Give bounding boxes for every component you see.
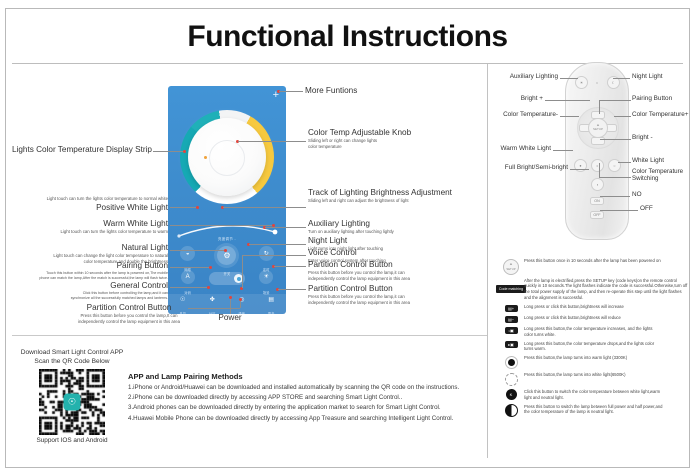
remote-label-color-temp-minus: Color Temperature- [488, 111, 558, 118]
legend-row-setup: ◓ SETUP Press this button once in 10 sec… [500, 258, 688, 275]
more-cell[interactable]: ▤ 更多 [257, 292, 287, 314]
remote-label-color-temp-plus: Color Temperature+ [632, 111, 695, 118]
label-text: Pairing Button [632, 95, 692, 102]
anchor-positive-white-light [196, 206, 199, 209]
remote-label-night-light: Night Light [632, 73, 692, 80]
callout-warm-white-light: Warm White Light Light touch can turn th… [10, 219, 168, 235]
legend-row-warm-light: Press this button,the lamp turns into wa… [500, 355, 688, 369]
callout-sub: Press this button before you control the… [44, 313, 214, 325]
label-text: Color Temperature- [488, 111, 558, 118]
callout-title: Partition Control Button [308, 284, 486, 293]
callout-sub: Press this button before you control the… [308, 270, 486, 282]
leader-night-light [249, 244, 306, 245]
setup-symbol-label: SETUP [506, 267, 515, 271]
anchor-display-strip [183, 150, 186, 153]
leader-natural-light [170, 250, 224, 251]
color-temp-minus-icon: ▸▣ [500, 341, 522, 352]
white-light-icon [500, 372, 522, 386]
remote-label-pairing-button: Pairing Button [632, 95, 692, 102]
legend-text: Long press or click this button,brightne… [522, 304, 624, 312]
callout-title: Pairing Button [10, 261, 168, 270]
remote-off-button[interactable]: OFF [590, 211, 604, 219]
callout-brightness-track: Track of Lighting Brightness Adjustment … [308, 188, 486, 204]
timer-icon[interactable]: ↻ [259, 246, 274, 261]
power-toggle-dot [237, 277, 241, 281]
anchor-pairing-button [209, 266, 212, 269]
leader-remote-night [613, 78, 630, 79]
remote-control: ☀ ☾ ◓ SETUP ● ◐ ○ ◖ ON OFF [565, 62, 629, 240]
qr-line-2: Scan the QR Code Below [18, 357, 126, 366]
callout-general-control: General Control Click this button before… [10, 281, 168, 301]
bright-minus-icon: ▤− [500, 315, 522, 323]
color-temp-plus-icon: ◃▣ [500, 326, 522, 337]
remote-label-bright-plus: Bright + [495, 95, 543, 102]
callout-pairing-button: Pairing Button Touch this button within … [10, 261, 168, 281]
bright-plus-icon: ▤+ [500, 304, 522, 312]
callout-sub: Light touch can turn the lights color te… [10, 196, 168, 202]
leader-voice-control [242, 255, 306, 256]
callout-sub: Light touch can turn the lights color te… [10, 229, 168, 235]
leader-voice-control-v [242, 255, 243, 288]
leader-partition-right-2 [278, 289, 306, 290]
callout-more-functions: More Funtions [305, 86, 435, 95]
label-text: Bright + [495, 95, 543, 102]
callout-title: Positive White Light [10, 203, 168, 212]
setup-button-icon: ◓ SETUP [500, 258, 522, 275]
pairing-methods-block: APP and Lamp Pairing Methods 1.iPhone or… [128, 372, 480, 425]
callout-title: Track of Lighting Brightness Adjustment [308, 188, 486, 197]
anchor-warm-white-light [272, 224, 275, 227]
label-text: Night Light [632, 73, 692, 80]
qr-support-text: Support IOS and Android [18, 437, 126, 444]
wifi-icon[interactable]: ◒ [180, 246, 195, 261]
legend-row-ct-minus: ▸▣ Long press this button,the color temp… [500, 341, 688, 352]
leader-remote-pairing [599, 100, 631, 101]
legend-text: Press this button,the lamp turns into wa… [522, 355, 627, 369]
knob-indicator-dot [204, 156, 207, 159]
app-logo-icon: ☉ [64, 394, 81, 411]
legend-text: Press this button to switch the lamp bet… [522, 404, 663, 418]
remote-label-off: OFF [640, 205, 680, 212]
qr-line-1: Download Smart Light Control APP [18, 348, 126, 357]
code-matching-icon: Code matching [500, 278, 522, 300]
remote-label-color-temp-switching: Color Temperature Switching [632, 168, 692, 182]
remote-label-no: NO [632, 191, 672, 198]
anchor-partition-left [239, 298, 242, 301]
brightness-label: 亮度调节 - [168, 236, 286, 241]
remote-label-auxiliary-lighting: Auxiliary Lighting [495, 73, 558, 80]
leader-color-temp-knob [238, 141, 306, 142]
setup-label: SETUP [593, 128, 603, 131]
remote-label-warm-white-light: Warm White Light [492, 145, 551, 152]
label-text: Full Bright/Semi-bright [490, 164, 568, 171]
leader-remote-ct-plus [614, 116, 631, 117]
anchor-natural-light [224, 249, 227, 252]
callout-sub: Sliding left and right can adjust the br… [308, 198, 486, 204]
label-text: Bright - [632, 134, 692, 141]
callout-partition-right-2: Partition Control Button Press this butt… [308, 284, 486, 306]
voice-control-cell[interactable]: ◎ 语音 [227, 292, 257, 314]
leader-partition-right-1 [274, 266, 306, 267]
label-text: NO [632, 191, 672, 198]
legend-row-white-light: Press this button,the lamp turns into wh… [500, 372, 688, 386]
remote-led-icon [596, 82, 598, 84]
legend-text: Long press this button,the color tempera… [522, 326, 653, 337]
label-text: Color Temperature+ [632, 111, 695, 118]
qr-code[interactable]: ☉ [39, 369, 105, 435]
legend-setup-note: Press this button once in 10 seconds aft… [522, 258, 661, 275]
callout-sub: Sliding left or right can change lights … [308, 138, 468, 150]
leader-general-control [170, 287, 207, 288]
legend-code-matching-note: After the lamp is electrified,press the … [522, 278, 688, 300]
pairing-heading: APP and Lamp Pairing Methods [128, 372, 480, 381]
horizontal-divider [12, 335, 487, 336]
leader-display-strip [153, 151, 183, 152]
callout-title: Night Light [308, 236, 486, 245]
leader-partition-left [188, 308, 240, 309]
anchor-general-control [207, 286, 210, 289]
leader-remote-pairing-v [599, 100, 600, 114]
remote-color-temp-switch-button[interactable]: ◐ [591, 159, 604, 172]
leader-remote-aux [560, 78, 578, 79]
leader-power [230, 298, 231, 314]
callout-sub: Touch this button within 10 seconds afte… [10, 271, 168, 281]
anchor-power [229, 296, 232, 299]
label-text: Color Temperature Switching [632, 168, 692, 182]
power-toggle[interactable] [209, 272, 245, 285]
leader-remote-fullbright [570, 169, 589, 170]
leader-remote-ct-switch-v [599, 163, 600, 177]
legend-text: Click this button to switch the color te… [522, 389, 660, 401]
page-title: Functional Instructions [0, 20, 695, 54]
callout-sub: Click this button before controlling the… [10, 291, 168, 301]
legend-row-bright-plus: ▤+ Long press or click this button,brigh… [500, 304, 688, 312]
warm-light-icon [500, 355, 522, 369]
pairing-step: 4.Huawei Mobile Phone can be downloaded … [128, 415, 480, 423]
leader-remote-ct-switch [599, 177, 631, 178]
pairing-step: 2.iPhone can be downloaded directly by a… [128, 394, 480, 402]
callout-sub: Turn on auxiliary lighting after touchin… [308, 229, 486, 235]
label-text: White Light [632, 157, 692, 164]
remote-full-half-bright-button[interactable]: ◖ [591, 178, 604, 191]
callout-title: Voice Control [308, 248, 486, 257]
leader-remote-on [600, 196, 630, 197]
color-temp-switch-icon: K [500, 389, 522, 401]
label-text: Auxiliary Lighting [495, 73, 558, 80]
legend-text: Long press this button,the color tempera… [522, 341, 654, 352]
callout-display-strip: Lights Color Temperature Display Strip [10, 145, 152, 154]
label-text: Warm White Light [492, 145, 551, 152]
legend-row-full-half: Press this button to switch the lamp bet… [500, 404, 688, 418]
callout-sub: Press this button before you control the… [308, 294, 486, 306]
callout-title: Partition Control Button [308, 260, 486, 269]
callout-title: Auxiliary Lighting [308, 219, 486, 228]
leader-remote-bright-minus [600, 139, 631, 140]
leader-remote-ct-minus [560, 116, 579, 117]
qr-block: Download Smart Light Control APP Scan th… [18, 348, 126, 444]
leader-partition-left-v [240, 300, 241, 308]
leader-warm-white-light [170, 225, 272, 226]
legend-row-code-matching: Code matching After the lamp is electrif… [500, 278, 688, 300]
power-knob-icon[interactable]: ⚙ [217, 246, 236, 265]
callout-color-temp-knob: Color Temp Adjustable Knob Sliding left … [308, 128, 468, 150]
legend-row-bright-minus: ▤− Long press or click this button,brigh… [500, 315, 688, 323]
remote-pairing-button[interactable]: ◓ SETUP [588, 118, 608, 138]
leader-remote-warm [553, 150, 573, 151]
label-text: OFF [640, 205, 680, 212]
callout-title: Lights Color Temperature Display Strip [10, 145, 152, 154]
remote-label-full-bright: Full Bright/Semi-bright [490, 164, 568, 171]
more-icon[interactable]: ▤ [266, 294, 277, 305]
remote-label-white-light: White Light [632, 157, 692, 164]
callout-title: Warm White Light [10, 219, 168, 228]
callout-power: Power [190, 313, 270, 322]
callout-title: Natural Light [10, 243, 168, 252]
pairing-step: 3.Android phones can be downloaded direc… [128, 404, 480, 412]
remote-warm-white-light-button[interactable]: ● [574, 159, 587, 172]
legend-text: Long press or click this button,brightne… [522, 315, 621, 323]
leader-remote-white [618, 162, 631, 163]
phone-app-screen: + 亮度调节 - ◒ 网络 ⚙ 开关 ↻ 定时 [168, 86, 286, 314]
scene-icon[interactable]: ☀ [259, 270, 273, 284]
remote-label-bright-minus: Bright - [632, 134, 692, 141]
leader-brightness-track [223, 207, 306, 208]
instruction-sheet: Functional Instructions + 亮度调节 - ◒ 网络 ⚙ [0, 0, 695, 476]
pairing-step: 1.iPhone or Android/Huawei can be downlo… [128, 384, 480, 392]
full-half-power-icon [500, 404, 522, 418]
pairing-icon[interactable]: A [181, 270, 195, 284]
power-label: Power [190, 313, 270, 322]
vertical-divider [487, 64, 488, 458]
leader-positive-white-light [170, 207, 196, 208]
leader-pairing-button [170, 267, 209, 268]
callout-auxiliary-lighting: Auxiliary Lighting Turn on auxiliary lig… [308, 219, 486, 235]
callout-title: General Control [10, 281, 168, 290]
remote-white-light-button[interactable]: ○ [608, 159, 621, 172]
callout-partition-right-1: Partition Control Button Press this butt… [308, 260, 486, 282]
legend-text: Press this button,the lamp turns into wh… [522, 372, 625, 386]
remote-on-button[interactable]: ON [590, 197, 604, 205]
callout-positive-white-light: Light touch can turn the lights color te… [10, 195, 168, 212]
callout-title: More Funtions [305, 86, 435, 95]
callout-partition-left: Partition Control Button Press this butt… [44, 303, 214, 325]
leader-remote-bright-plus [545, 100, 590, 101]
legend-row-ct-switch: K Click this button to switch the color … [500, 389, 688, 401]
legend-row-ct-plus: ◃▣ Long press this button,the color temp… [500, 326, 688, 337]
leader-auxiliary-lighting [265, 227, 306, 228]
leader-remote-off [600, 210, 638, 211]
legend-block: ◓ SETUP Press this button once in 10 sec… [500, 258, 688, 421]
knob-inner-ring [209, 140, 245, 176]
leader-more-functions [279, 91, 303, 92]
callout-title: Color Temp Adjustable Knob [308, 128, 468, 137]
